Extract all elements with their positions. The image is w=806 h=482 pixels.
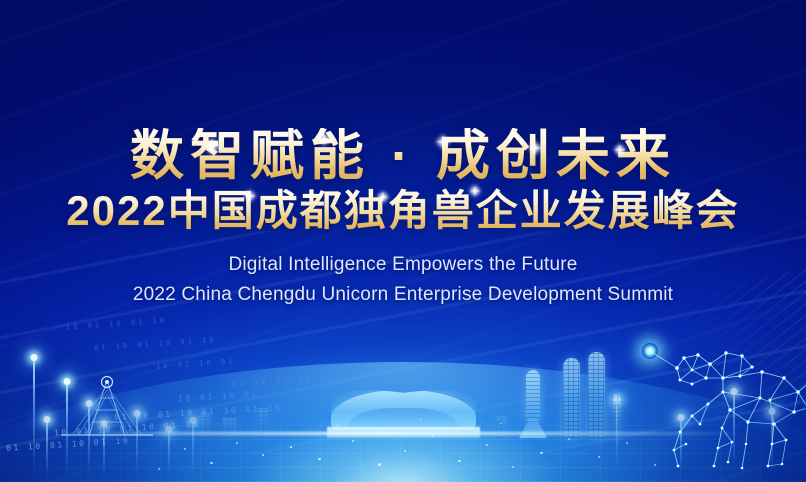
- light-beam: [33, 358, 35, 476]
- small-tower-icon: [612, 394, 621, 438]
- light-beam: [46, 420, 48, 480]
- building-roof-inner: [349, 408, 458, 430]
- subtitle-english-line1: Digital Intelligence Empowers the Future: [228, 254, 577, 275]
- light-beam: [168, 430, 170, 480]
- binary-code-far-layer: 10 01 10 01 10 01 10 01 10 01 10 10 01 1…: [60, 316, 390, 386]
- light-beam: [733, 392, 735, 470]
- light-beam: [680, 418, 682, 474]
- cone-tower-icon: [519, 370, 547, 438]
- cone-tower-base: [519, 418, 547, 438]
- cone-tower-body: [526, 370, 540, 422]
- binary-row: 01 10 01 10 01 10: [94, 336, 217, 353]
- curved-roof-building-icon: [331, 386, 476, 442]
- horizon-glow: [0, 292, 806, 482]
- building-roof: [331, 390, 476, 430]
- title-chinese-line1: 数智赋能 · 成创未来: [0, 128, 806, 185]
- skyline-block: [496, 416, 506, 438]
- skyline-block: [222, 418, 236, 438]
- subtitle-english-line2: 2022 China Chengdu Unicorn Enterprise De…: [0, 281, 806, 310]
- binary-row: 10 01 10 01: [156, 357, 236, 371]
- light-beam: [103, 424, 105, 480]
- chengdu-skyline: [0, 322, 806, 442]
- horizon-highlight-line: [64, 432, 741, 435]
- twin-tower-left-icon: [563, 358, 580, 438]
- building-podium: [327, 427, 480, 438]
- ground-curve-glow: [0, 362, 806, 482]
- ground-particles: [0, 387, 806, 482]
- subtitle-english: Digital Intelligence Empowers the Future…: [0, 251, 806, 309]
- light-beam: [192, 421, 194, 479]
- twin-tower-right-icon: [588, 352, 605, 438]
- binary-row: 01 10 01 10 01 10: [6, 436, 131, 453]
- poster-text-block: 数智赋能 · 成创未来 2022中国成都独角兽企业发展峰会 Digital In…: [0, 128, 806, 309]
- binary-row: 10 01 10 01 10: [66, 316, 167, 331]
- skyline-block: [200, 412, 211, 438]
- wireframe-unicorn-icon: [622, 320, 806, 476]
- light-beam: [771, 412, 773, 474]
- light-beam: [136, 414, 138, 478]
- light-beam: [88, 404, 90, 478]
- binary-row: 01 10 01 10 01: [232, 373, 335, 388]
- binary-row: 10 01 10 01: [178, 390, 259, 404]
- light-beam: [66, 382, 68, 478]
- skyline-block: [258, 408, 268, 438]
- poster-canvas: 10 01 10 01 10 01 10 01 10 01 10 10 01 1…: [0, 0, 806, 482]
- cable-stay-bridge-icon: [59, 374, 155, 438]
- binary-code-layer: 01 10 01 10 01 10 10 01 10 01 10 01 10 0…: [0, 356, 416, 476]
- perspective-floor-grid: [0, 377, 806, 482]
- unicorn-horn-glow: [642, 343, 658, 359]
- title-chinese-line2: 2022中国成都独角兽企业发展峰会: [0, 187, 806, 235]
- binary-row: 01 10 01 10 01 10 01 10: [114, 403, 283, 422]
- light-beam: [616, 400, 618, 470]
- binary-row: 10 01 10 01 10 01 10: [54, 420, 201, 438]
